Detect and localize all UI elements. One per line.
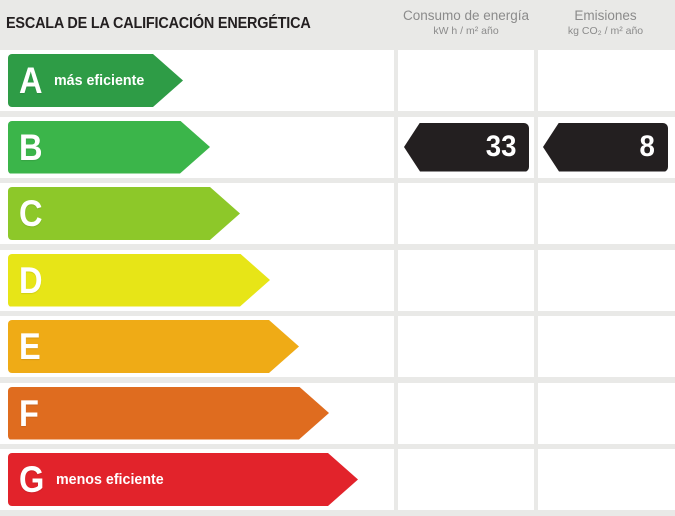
rating-letter-c: C — [19, 195, 43, 232]
rating-row-e: E — [0, 316, 675, 377]
emissions-value-marker: 8 — [543, 123, 668, 172]
column-header-consumption: Consumo de energía kW h / m² año — [398, 7, 534, 38]
consumption-value-marker: 33 — [404, 123, 529, 172]
rating-bar-f: F — [8, 387, 329, 440]
rating-row-a: Amás eficiente — [0, 50, 675, 111]
cell-cons-c — [398, 183, 534, 244]
cell-cons-f — [398, 383, 534, 444]
column-header-emissions: Emisiones kg CO₂ / m² año — [536, 7, 675, 38]
rating-bar-c: C — [8, 187, 240, 240]
column-header-consumption-units: kW h / m² año — [398, 24, 534, 38]
cell-emis-f — [538, 383, 675, 444]
cell-emis-g — [538, 449, 675, 510]
rating-letter-a: A — [19, 62, 43, 99]
cell-cons-e — [398, 316, 534, 377]
rating-letter-d: D — [19, 262, 43, 299]
column-header-consumption-title: Consumo de energía — [398, 7, 534, 24]
energy-rating-scale: ESCALA DE LA CALIFICACIÓN ENERGÉTICA Con… — [0, 0, 675, 516]
rating-bar-e: E — [8, 320, 299, 373]
rating-bar-g: Gmenos eficiente — [8, 453, 358, 506]
cell-emis-c — [538, 183, 675, 244]
cell-emis-a — [538, 50, 675, 111]
emissions-value: 8 — [640, 132, 668, 162]
cell-emis-d — [538, 250, 675, 311]
rating-letter-e: E — [19, 328, 41, 365]
cell-cons-a — [398, 50, 534, 111]
column-header-emissions-title: Emisiones — [536, 7, 675, 24]
rating-letter-b: B — [19, 129, 43, 166]
rating-bar-a: Amás eficiente — [8, 54, 183, 107]
efficiency-note-g: menos eficiente — [56, 471, 164, 488]
efficiency-note-a: más eficiente — [54, 72, 144, 89]
cell-cons-d — [398, 250, 534, 311]
rating-row-g: Gmenos eficiente — [0, 449, 675, 510]
page-title: ESCALA DE LA CALIFICACIÓN ENERGÉTICA — [6, 15, 311, 33]
rating-row-d: D — [0, 250, 675, 311]
rating-row-f: F — [0, 383, 675, 444]
rating-bar-d: D — [8, 254, 270, 307]
rating-row-c: C — [0, 183, 675, 244]
consumption-value: 33 — [485, 132, 529, 162]
rating-bar-b: B — [8, 121, 210, 174]
rating-letter-g: G — [19, 461, 44, 498]
rating-letter-f: F — [19, 395, 39, 432]
column-header-emissions-units: kg CO₂ / m² año — [536, 24, 675, 38]
cell-cons-g — [398, 449, 534, 510]
cell-emis-e — [538, 316, 675, 377]
